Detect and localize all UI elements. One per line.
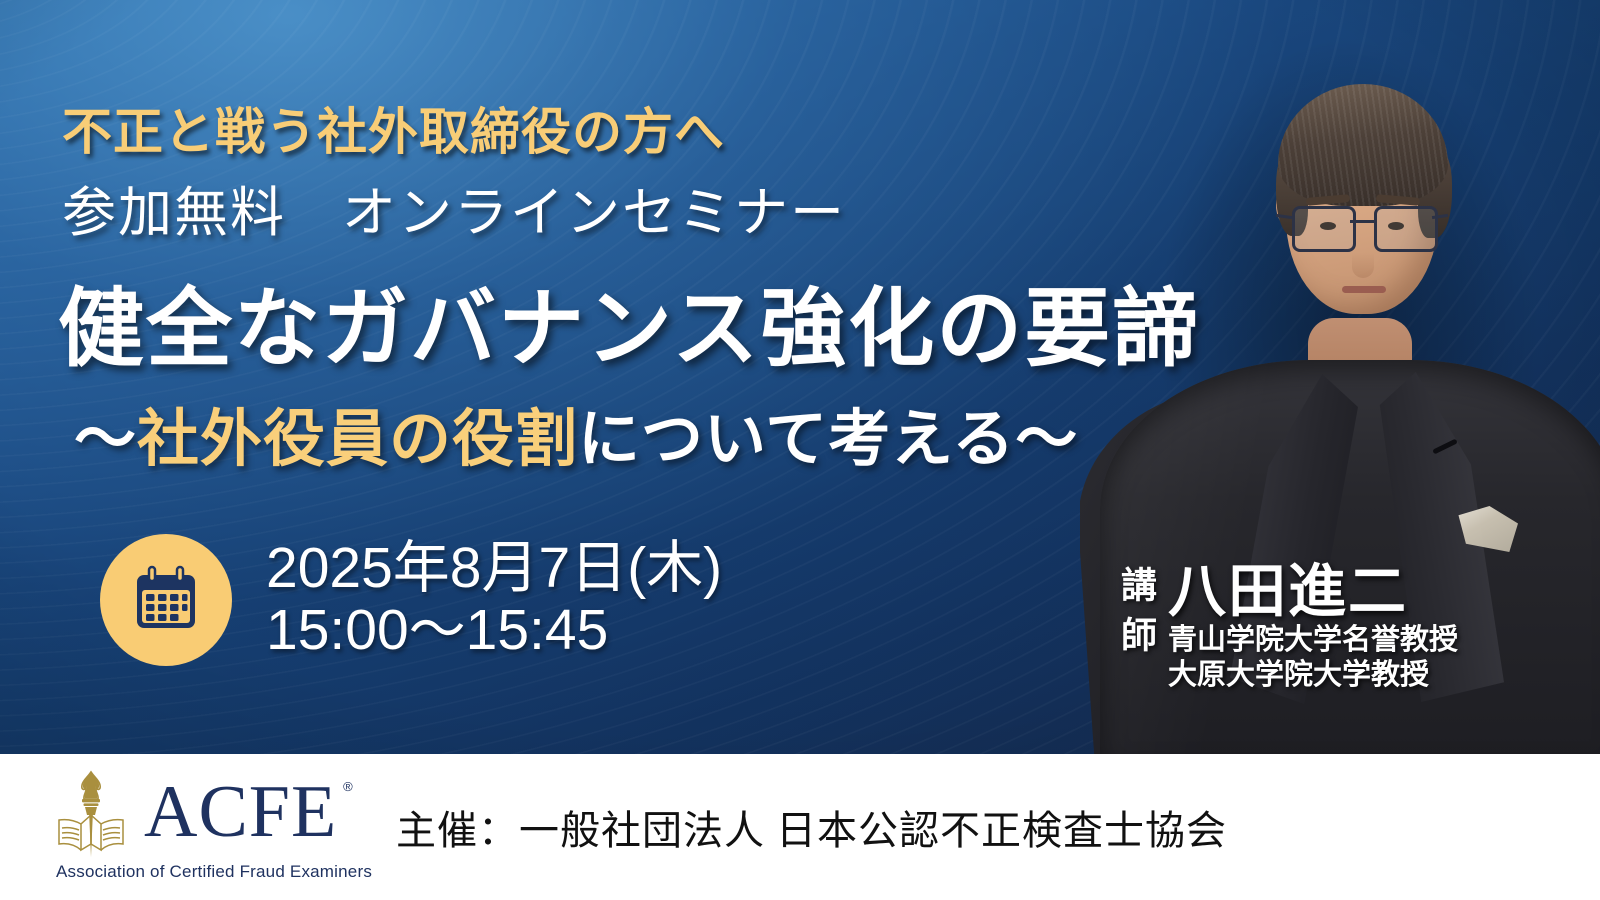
headline-kicker: 不正と戦う社外取締役の方へ [62,92,725,164]
event-time: 15:00〜15:45 [266,600,722,662]
speaker-info: 八田進二 青山学院大学名誉教授 大原大学院大学教授 [1168,562,1458,694]
acfe-wordmark: ACFE [144,777,337,847]
subtitle-highlight: 社外役員の役割 [137,405,578,474]
page-title: 健全なガバナンス強化の要諦 [58,258,1200,383]
calendar-icon [100,534,232,666]
headline-free-online: 参加無料 オンラインセミナー [62,168,846,247]
speaker-name: 八田進二 [1168,562,1458,623]
speaker-title-line1: 青山学院大学名誉教授 [1168,623,1458,658]
speaker-label: 講師 [1118,562,1154,666]
lens-right [1374,206,1438,252]
speaker-block: 講師 八田進二 青山学院大学名誉教授 大原大学院大学教授 [1118,562,1458,694]
registered-trademark-icon: ® [343,779,353,794]
subtitle-prefix: ～ [74,405,137,474]
acfe-logo-row: ACFE ® [48,766,357,858]
host-organization: 主催：一般社団法人 日本公認不正検査士協会 [396,798,1227,856]
glasses-bridge [1350,220,1374,223]
speaker-title-line2: 大原大学院大学教授 [1168,658,1458,693]
acfe-tagline: Association of Certified Fraud Examiners [56,862,372,882]
acfe-logo: ACFE ® Association of Certified Fraud Ex… [48,766,372,882]
lens-left [1292,206,1356,252]
seminar-banner: 不正と戦う社外取締役の方へ 参加無料 オンラインセミナー 健全なガバナンス強化の… [0,0,1600,900]
page-subtitle: ～社外役員の役割について考える～ [74,388,1078,478]
torch-book-emblem-icon [48,766,134,858]
schedule-text: 2025年8月7日(木) 15:00〜15:45 [266,538,722,661]
footer-bar: ACFE ® Association of Certified Fraud Ex… [0,754,1600,900]
eyeglasses-icon [1286,206,1438,252]
subtitle-suffix: について考える～ [578,405,1078,474]
schedule-block: 2025年8月7日(木) 15:00〜15:45 [100,534,722,666]
event-date: 2025年8月7日(木) [266,538,722,600]
mouth [1342,286,1386,293]
